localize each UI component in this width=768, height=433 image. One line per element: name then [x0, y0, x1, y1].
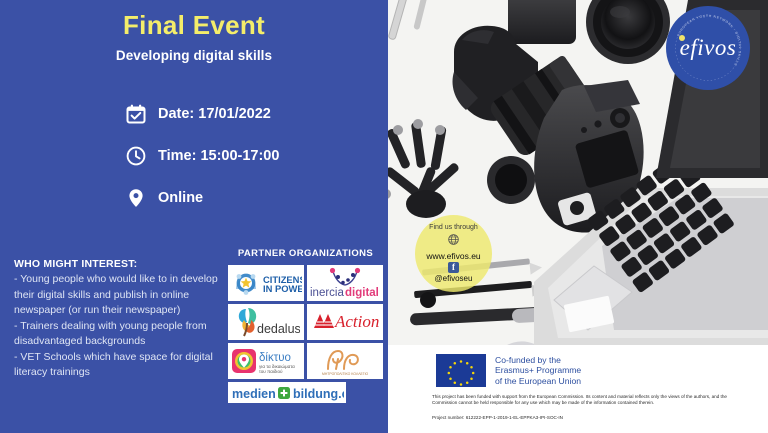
- event-detail-time: Time: 15:00-17:00: [126, 146, 279, 166]
- partner-logo-grid: CITIZENS IN POWER: [228, 265, 383, 403]
- eu-text-line2: Erasmus+ Programme: [495, 365, 581, 375]
- audience-block: WHO MIGHT INTEREST: - Young people who w…: [14, 258, 224, 381]
- eu-text-line1: Co-funded by the: [495, 355, 561, 365]
- audience-line: - Young people who would like to in deve…: [14, 272, 224, 288]
- medien-word: medien: [232, 387, 276, 401]
- event-date-label: Date: 17/01/2022: [158, 106, 271, 122]
- audience-line: - Trainers dealing with young people fro…: [14, 319, 224, 335]
- audience-line: disadvantaged backgrounds: [14, 334, 224, 350]
- website-url[interactable]: www.efivos.eu: [426, 251, 480, 261]
- eu-text-line3: of the European Union: [495, 376, 581, 386]
- eu-funding-row: Co-funded by the Erasmus+ Programme of t…: [436, 354, 581, 387]
- partner-organizations: PARTNER ORGANIZATIONS: [228, 248, 383, 403]
- find-us-label: Find us through: [429, 224, 478, 231]
- partner-logo-metropolitan: ΜΗΤΡΟΠΟΛΙΤΙΚΟ ΚΟΛΛΕΓΙΟ: [307, 343, 383, 379]
- eu-funding-text: Co-funded by the Erasmus+ Programme of t…: [495, 355, 581, 386]
- event-details-list: Date: 17/01/2022 Time: 15:00-17:00: [126, 104, 279, 208]
- partner-logo-citizens-in-power: CITIZENS IN POWER: [228, 265, 304, 301]
- small-lens-shape: [487, 156, 535, 204]
- facebook-icon[interactable]: f: [448, 262, 459, 273]
- metropolitan-sub: ΜΗΤΡΟΠΟΛΙΤΙΚΟ ΚΟΛΛΕΓΙΟ: [322, 372, 369, 376]
- event-location-label: Online: [158, 190, 203, 206]
- globe-icon: [448, 232, 459, 250]
- partner-logo-action: Action: [307, 304, 383, 340]
- efivos-logo-badge: EUROPEAN YOUTH NETWORK · DIGITAL SKILLS …: [666, 6, 750, 90]
- inercia-word-b: digital: [345, 287, 379, 299]
- eu-flag-icon: [436, 354, 486, 387]
- audience-line: their digital skills and publish in onli…: [14, 288, 224, 304]
- social-find-us-badge: Find us through www.efivos.eu f @efivose…: [415, 215, 492, 292]
- partner-logo-diktyo: δίκτυο για τα δικαιώματα του παιδιού: [228, 343, 304, 379]
- phone-shape: [508, 0, 576, 44]
- audience-line: newspaper (or run their newspaper): [14, 303, 224, 319]
- event-detail-location: Online: [126, 188, 279, 208]
- earbud-shape: [420, 292, 436, 308]
- funding-disclaimer: This project has been funded with suppor…: [432, 394, 732, 407]
- hero-photo-panel: EUROPEAN YOUTH NETWORK · DIGITAL SKILLS …: [388, 0, 768, 345]
- audience-heading: WHO MIGHT INTEREST:: [14, 258, 224, 270]
- location-pin-icon: [126, 188, 146, 208]
- clock-icon: [126, 146, 146, 166]
- dedalus-word: dedalus: [257, 322, 300, 336]
- bildung-word: bildung.com: [293, 387, 344, 401]
- page-subtitle: Developing digital skills: [0, 48, 388, 63]
- funding-footer: Co-funded by the Erasmus+ Programme of t…: [388, 345, 768, 433]
- page-title: Final Event: [0, 10, 388, 41]
- action-word: Action: [334, 312, 379, 331]
- event-detail-date: Date: 17/01/2022: [126, 104, 279, 124]
- citizens-line2: IN POWER: [263, 283, 302, 294]
- event-time-label: Time: 15:00-17:00: [158, 148, 279, 164]
- efivos-wordmark: efivos: [680, 35, 737, 61]
- audience-line: - VET Schools which have space for digit…: [14, 350, 224, 366]
- partner-logo-dedalus: dedalus: [228, 304, 304, 340]
- audience-line: literacy trainings: [14, 365, 224, 381]
- partner-logo-inercia-digital: inercia digital: [307, 265, 383, 301]
- partners-heading: PARTNER ORGANIZATIONS: [228, 248, 383, 259]
- project-number: Project number: 612222-EPP-1-2019-1-EL-E…: [432, 415, 563, 420]
- inercia-word-a: inercia: [310, 287, 344, 299]
- left-info-panel: Final Event Developing digital skills Da…: [0, 0, 388, 433]
- social-handle[interactable]: @efivoseu: [435, 274, 473, 283]
- partner-logo-medien-bildung: medien bildung.com: [228, 382, 346, 403]
- calendar-icon: [126, 104, 146, 124]
- event-poster: Final Event Developing digital skills Da…: [0, 0, 768, 433]
- diktyo-sub2: του παιδιού: [259, 368, 283, 374]
- diktyo-main: δίκτυο: [259, 352, 291, 364]
